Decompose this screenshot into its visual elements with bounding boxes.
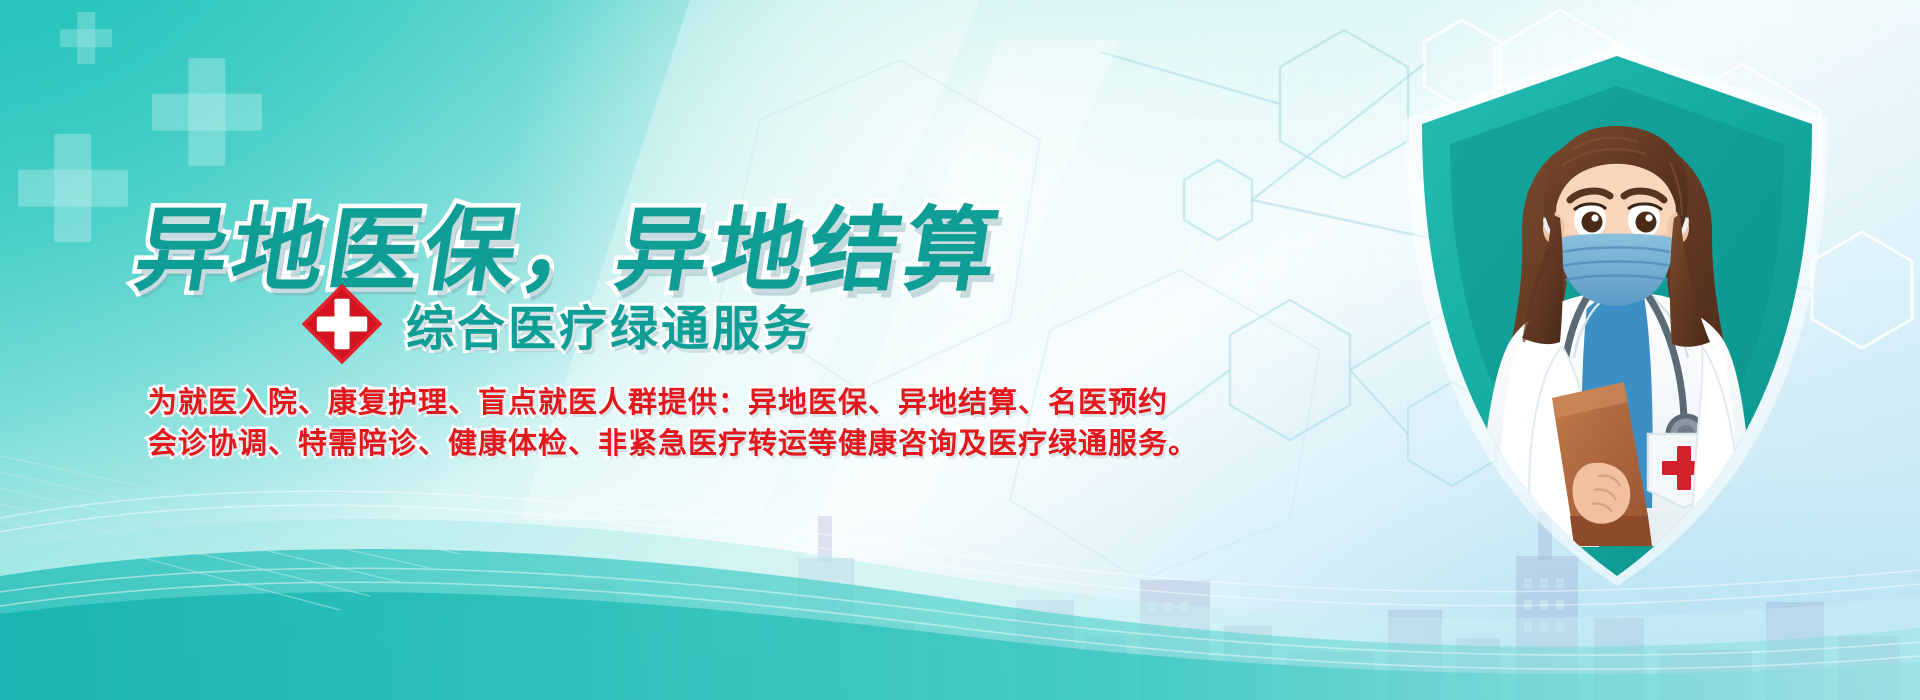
description-block: 为就医入院、康复护理、盲点就医人群提供：异地医保、异地结算、名医预约 会诊协调、…: [148, 382, 1078, 464]
description-line-1: 为就医入院、康复护理、盲点就医人群提供：异地医保、异地结算、名医预约: [148, 382, 1078, 423]
medical-cross-icon: [300, 282, 384, 366]
medical-banner: 异地医保，异地结算 综合医疗绿通服务 为就医入院、康复护理、盲点就医人群提供：异…: [0, 0, 1920, 700]
page-subtitle: 综合医疗绿通服务: [406, 289, 814, 359]
banner-content: 异地医保，异地结算 综合医疗绿通服务 为就医入院、康复护理、盲点就医人群提供：异…: [0, 0, 1150, 700]
description-line-2: 会诊协调、特需陪诊、健康体检、非紧急医疗转运等健康咨询及医疗绿通服务。: [148, 423, 1078, 464]
doctor-illustration: [1402, 46, 1832, 586]
subtitle-row: 综合医疗绿通服务: [300, 282, 814, 366]
